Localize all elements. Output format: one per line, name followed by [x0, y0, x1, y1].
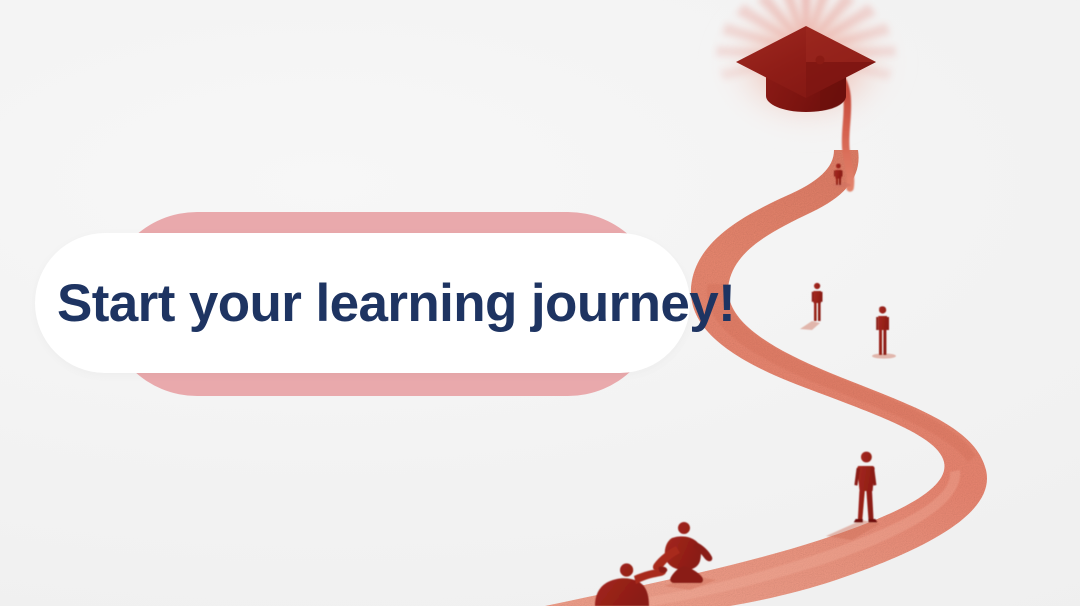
page-title: Start your learning journey!: [57, 277, 735, 330]
headline-card: Start your learning journey!: [35, 233, 690, 373]
figure-mid-path: [872, 306, 896, 358]
figure-helper-kneeling: [653, 522, 716, 590]
figure-lower-path: [826, 452, 880, 540]
headline-block: Start your learning journey!: [35, 212, 695, 398]
slide-canvas: Start your learning journey!: [0, 0, 1080, 606]
figure-upper-path: [800, 283, 823, 330]
